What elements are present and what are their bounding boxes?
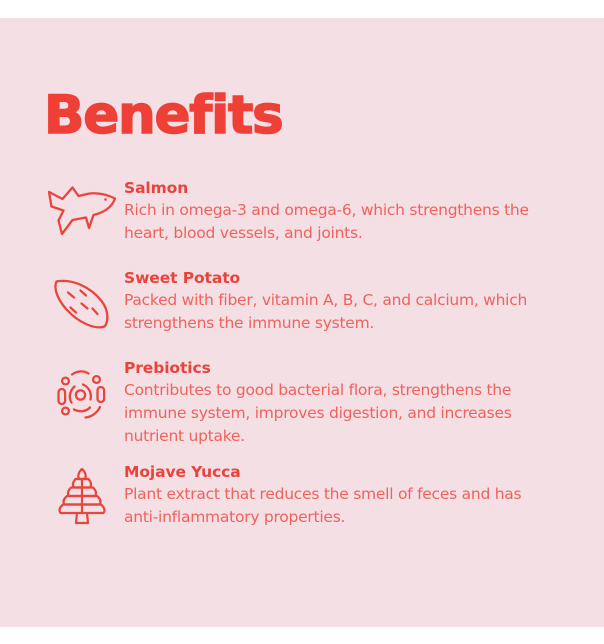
mojave-yucca-plant-icon [40, 460, 124, 538]
benefit-description: Packed with fiber, vitamin A, B, C, and … [124, 289, 554, 335]
benefit-text-mojave-yucca: Mojave Yucca Plant extract that reduces … [124, 460, 554, 529]
benefit-heading: Mojave Yucca [124, 462, 554, 482]
benefit-heading: Salmon [124, 178, 554, 198]
prebiotics-bacteria-icon [40, 356, 124, 434]
benefit-text-prebiotics: Prebiotics Contributes to good bacterial… [124, 356, 554, 448]
benefit-description: Contributes to good bacterial flora, str… [124, 379, 554, 448]
benefit-heading: Sweet Potato [124, 268, 554, 288]
benefits-list: Salmon Rich in omega-3 and omega-6, whic… [0, 176, 604, 550]
benefit-text-sweet-potato: Sweet Potato Packed with fiber, vitamin … [124, 266, 554, 335]
benefits-panel: Benefits Salmon Rich in omega-3 and omeg… [0, 18, 604, 627]
salmon-fish-icon [40, 176, 124, 254]
benefit-text-salmon: Salmon Rich in omega-3 and omega-6, whic… [124, 176, 554, 245]
benefit-description: Rich in omega-3 and omega-6, which stren… [124, 199, 554, 245]
benefit-item-sweet-potato: Sweet Potato Packed with fiber, vitamin … [0, 266, 604, 344]
benefit-item-prebiotics: Prebiotics Contributes to good bacterial… [0, 356, 604, 448]
page-title: Benefits [44, 86, 283, 146]
benefit-item-salmon: Salmon Rich in omega-3 and omega-6, whic… [0, 176, 604, 254]
benefit-description: Plant extract that reduces the smell of … [124, 483, 554, 529]
benefit-heading: Prebiotics [124, 358, 554, 378]
benefit-item-mojave-yucca: Mojave Yucca Plant extract that reduces … [0, 460, 604, 538]
sweet-potato-icon [40, 266, 124, 344]
